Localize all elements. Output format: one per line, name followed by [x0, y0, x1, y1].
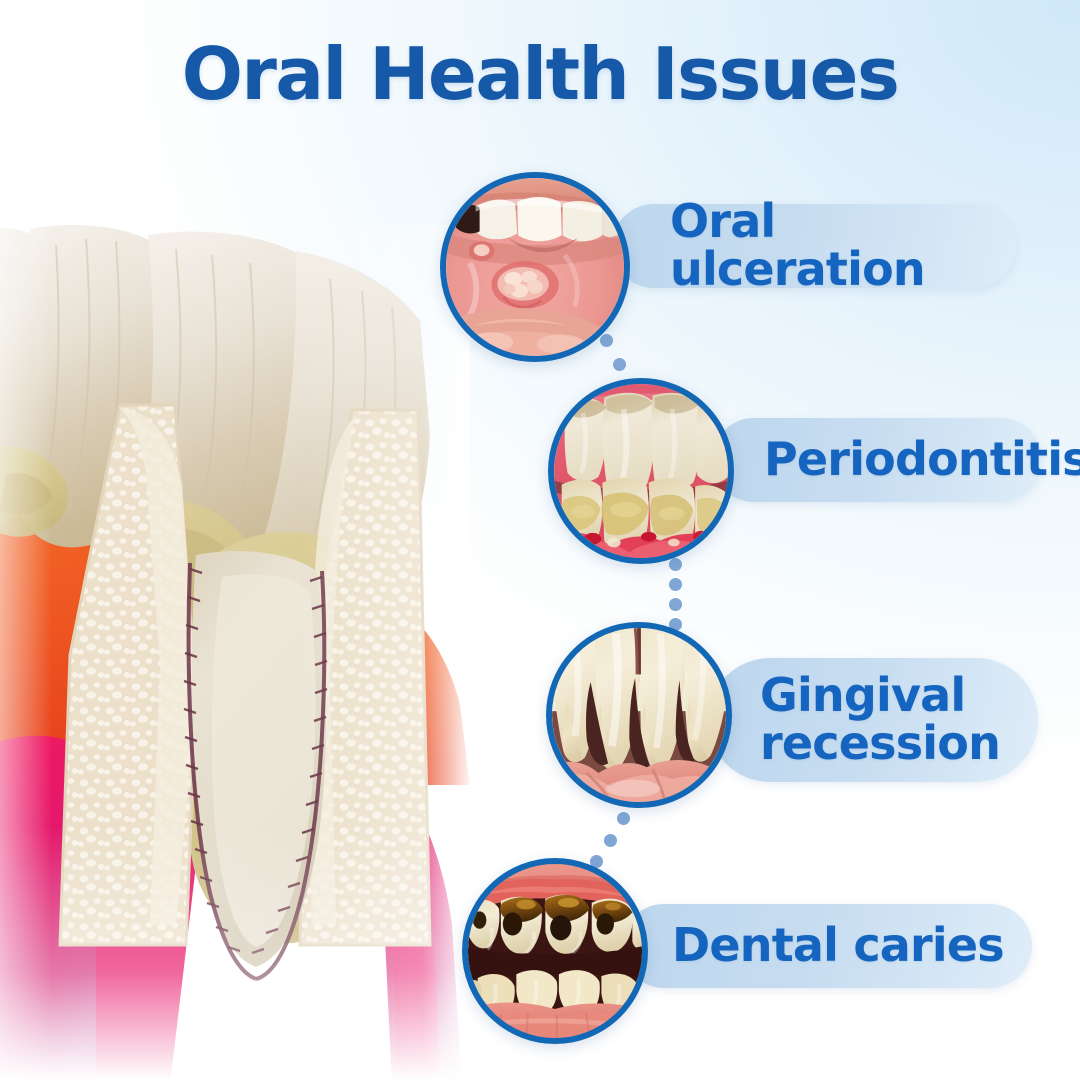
photo-circle-gingival-recession[interactable]	[546, 622, 732, 808]
label-pill-gingival-recession[interactable]: Gingival recession	[708, 658, 1038, 782]
photo-dental-caries	[468, 864, 642, 1038]
label-text-dental-caries: Dental caries	[672, 922, 1004, 970]
connector-dot	[604, 834, 617, 847]
connector-dot	[613, 358, 626, 371]
label-text-oral-ulceration: Oral ulceration	[670, 198, 1016, 294]
photo-periodontitis	[554, 384, 728, 558]
photo-circle-oral-ulceration[interactable]	[440, 172, 630, 362]
label-pill-oral-ulceration[interactable]: Oral ulceration	[612, 204, 1016, 288]
photo-oral-ulceration	[446, 178, 624, 356]
connector-dot	[669, 558, 682, 571]
label-pill-periodontitis[interactable]: Periodontitis	[712, 418, 1042, 502]
infographic-canvas: Oral Health Issues Oral ulceration Perio…	[0, 0, 1080, 1080]
label-text-periodontitis: Periodontitis	[764, 436, 1080, 484]
photo-circle-dental-caries[interactable]	[462, 858, 648, 1044]
connector-dot	[617, 812, 630, 825]
periodontal-disease-illustration	[0, 225, 470, 1080]
connector-dot	[600, 334, 613, 347]
connector-dot	[669, 578, 682, 591]
photo-gingival-recession	[552, 628, 726, 802]
photo-circle-periodontitis[interactable]	[548, 378, 734, 564]
page-title: Oral Health Issues	[0, 32, 1080, 116]
label-text-gingival-recession: Gingival recession	[760, 672, 1000, 768]
connector-dot	[669, 598, 682, 611]
label-pill-dental-caries[interactable]: Dental caries	[622, 904, 1032, 988]
